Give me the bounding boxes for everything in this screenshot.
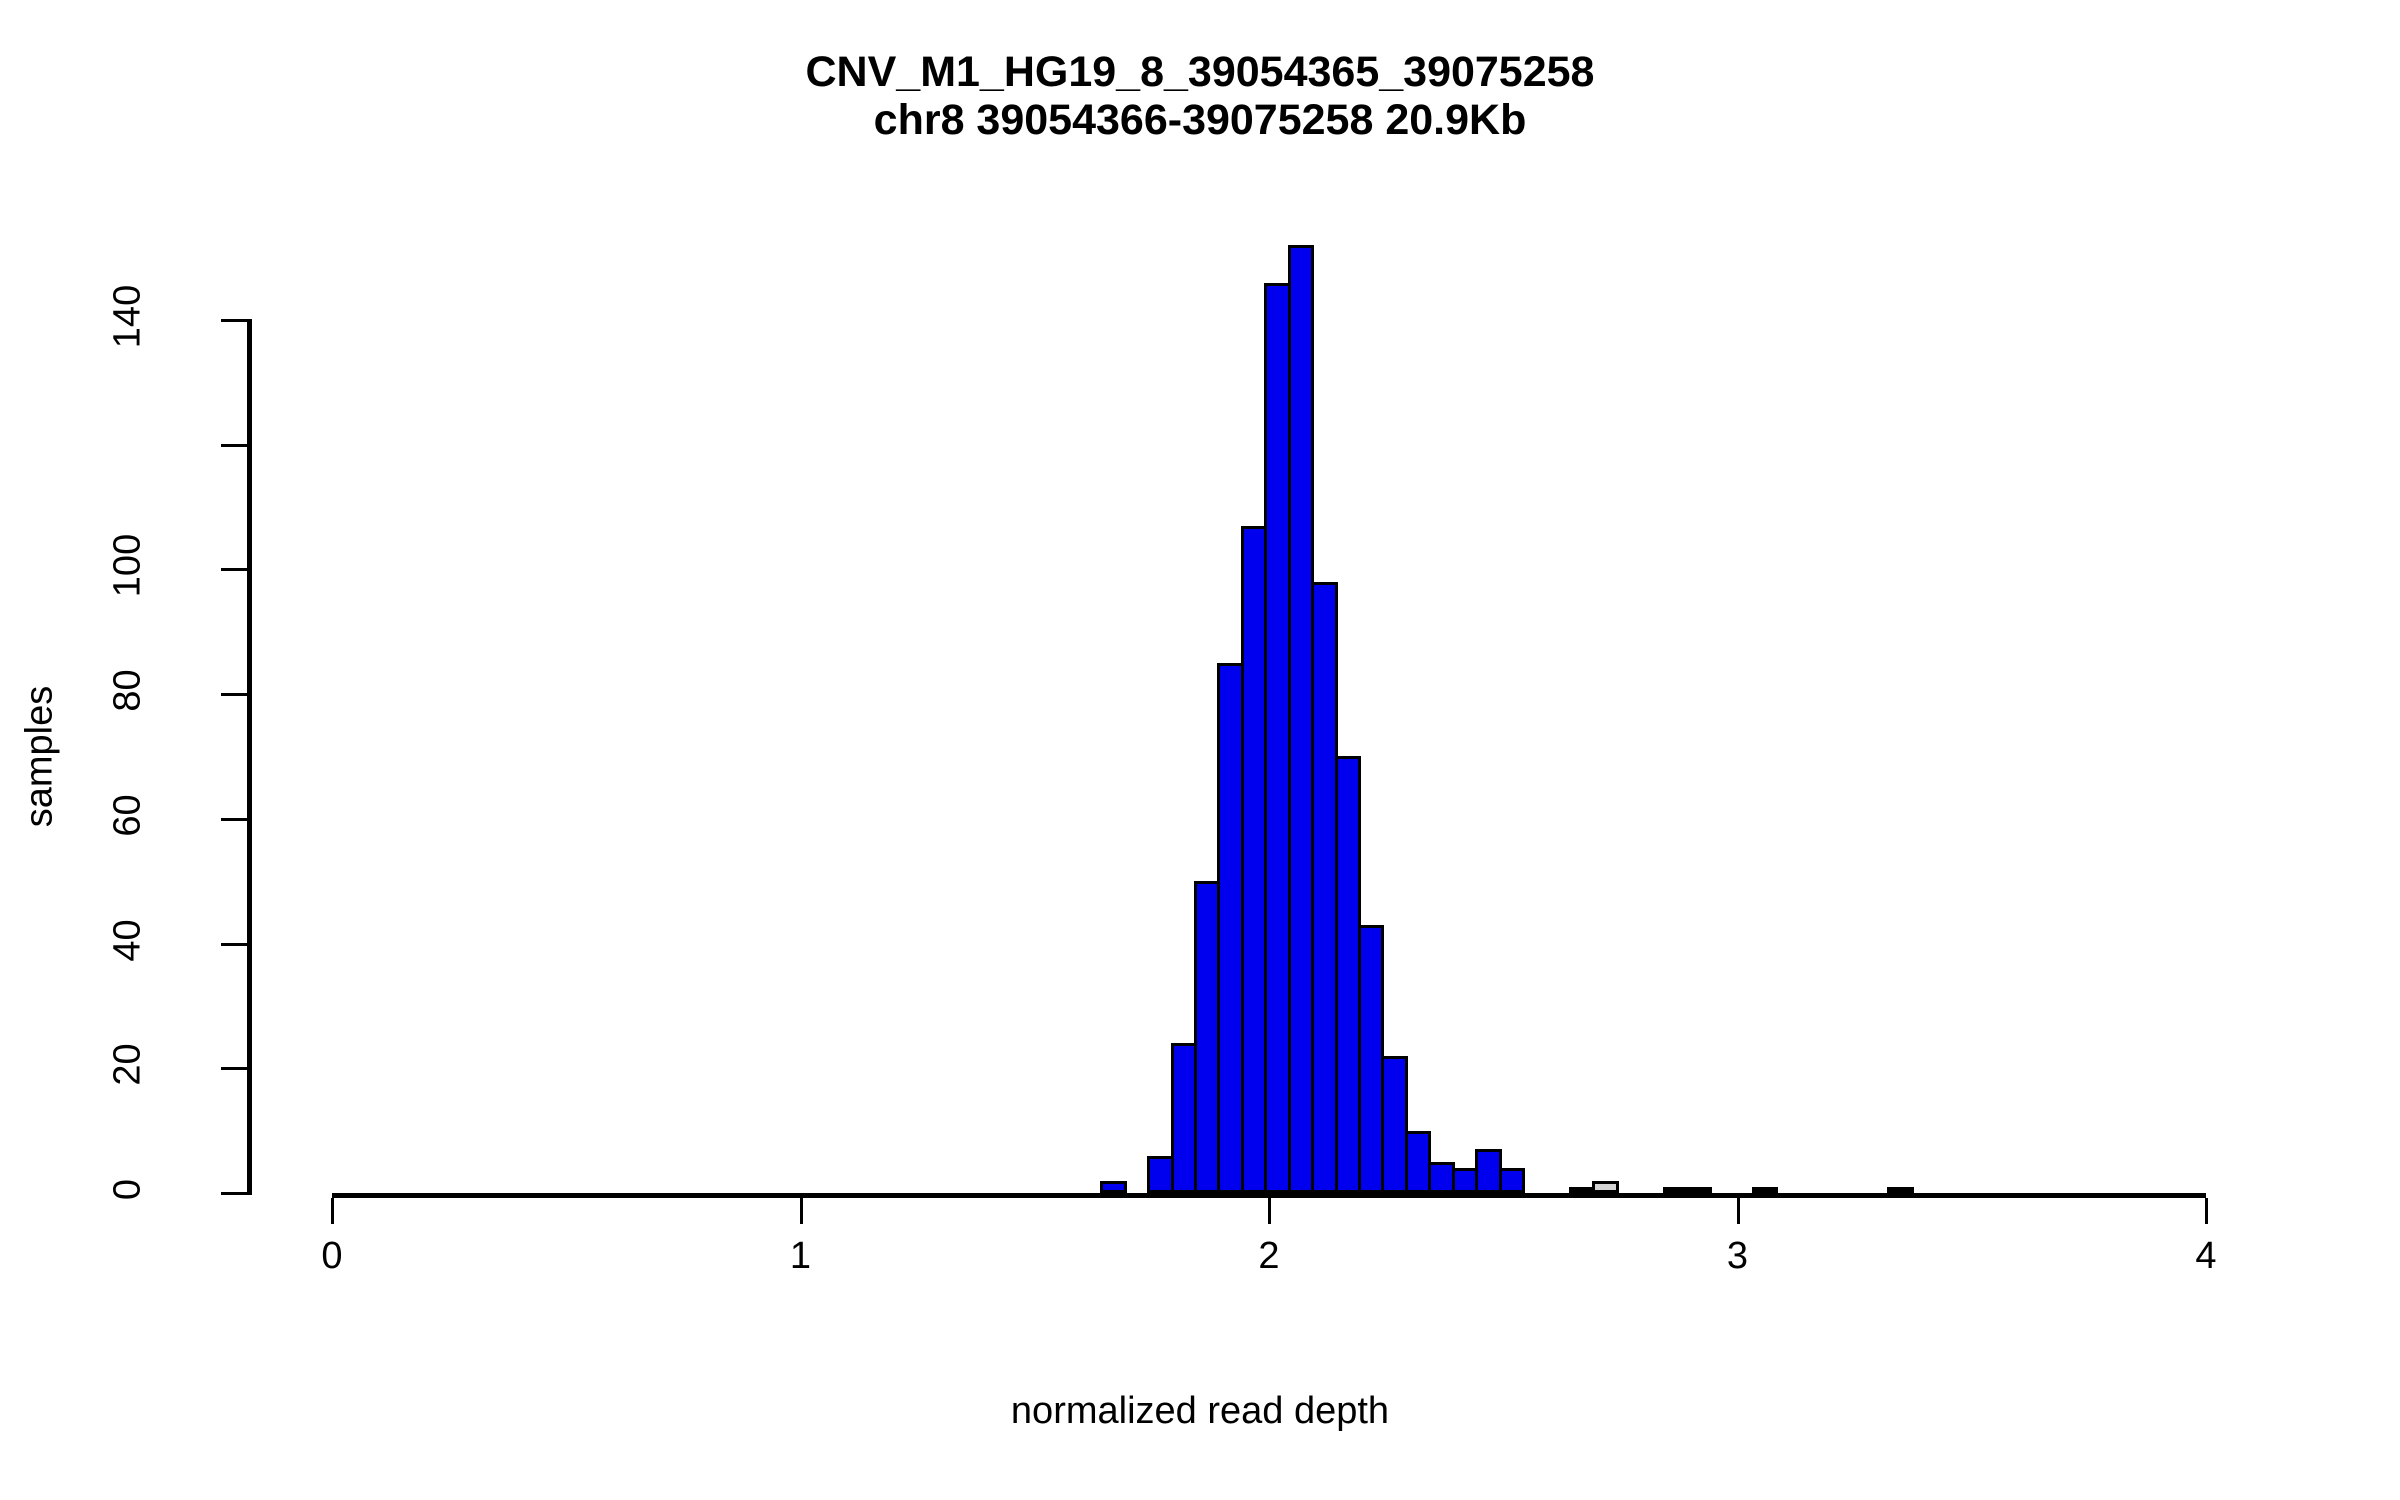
y-axis-tick (221, 1067, 252, 1070)
x-axis-tick (1268, 1198, 1271, 1224)
plot-canvas: CNV_M1_HG19_8_39054365_39075258 chr8 390… (0, 0, 2400, 1500)
x-axis-tick (2205, 1198, 2208, 1224)
histogram-bar (1499, 1168, 1525, 1193)
chart-title-line-1: CNV_M1_HG19_8_39054365_39075258 (0, 48, 2400, 96)
x-axis-tick-label: 0 (272, 1235, 392, 1278)
histogram-bar (1592, 1181, 1618, 1193)
y-axis-tick-label: 80 (107, 641, 150, 741)
y-axis-tick (221, 1192, 252, 1195)
y-axis-tick-label: 20 (107, 1015, 150, 1115)
x-axis-tick (331, 1198, 334, 1224)
x-axis-tick-label: 3 (1678, 1235, 1798, 1278)
x-axis-tick (1737, 1198, 1740, 1224)
chart-title-line-2: chr8 39054366-39075258 20.9Kb (0, 96, 2400, 144)
y-axis-tick (221, 943, 252, 946)
chart-title: CNV_M1_HG19_8_39054365_39075258 chr8 390… (0, 48, 2400, 144)
y-axis-tick (221, 568, 252, 571)
y-axis-tick (221, 818, 252, 821)
y-axis-tick-label: 0 (107, 1140, 150, 1240)
y-axis-tick-label: 40 (107, 890, 150, 990)
x-axis-tick-label: 1 (741, 1235, 861, 1278)
y-axis-tick (221, 319, 252, 322)
y-axis-tick-label: 100 (107, 516, 150, 616)
x-axis-tick (800, 1198, 803, 1224)
y-axis-tick-label: 140 (107, 266, 150, 366)
x-axis-tick-label: 4 (2146, 1235, 2266, 1278)
y-axis-tick (221, 693, 252, 696)
histogram-bar (1100, 1181, 1126, 1193)
y-axis-line (247, 320, 252, 1193)
y-axis-tick-label: 60 (107, 765, 150, 865)
y-axis-tick (221, 444, 252, 447)
x-axis-tick-label: 2 (1209, 1235, 1329, 1278)
y-axis-title: samples (19, 657, 62, 857)
x-axis-title: normalized read depth (0, 1390, 2400, 1433)
